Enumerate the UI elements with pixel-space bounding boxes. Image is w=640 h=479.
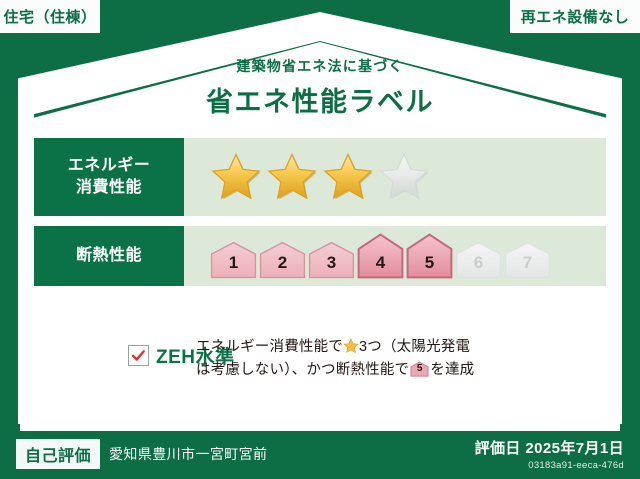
zeh-desc-text-1: エネルギー消費性能で <box>196 339 343 355</box>
star-filled-icon <box>322 151 374 203</box>
insulation-grade-value: 7 <box>504 253 551 273</box>
insulation-grade-6: 6 <box>455 241 502 279</box>
star-filled-icon <box>266 151 318 203</box>
insulation-grade-7: 7 <box>504 241 551 279</box>
star-filled-icon <box>210 151 262 203</box>
insulation-grade-2: 2 <box>259 241 306 279</box>
footer-right: 評価日 2025年7月1日 03183a91-eeca-476d <box>475 437 624 471</box>
inline-star-icon <box>343 338 359 354</box>
zeh-description: エネルギー消費性能で3つ（太陽光発電 は考慮しない）、かつ断熱性能で5を達成 <box>196 336 474 383</box>
insulation-grade-4: 4 <box>357 233 404 279</box>
footer: 自己評価 愛知県豊川市一宮町宮前 評価日 2025年7月1日 03183a91-… <box>0 429 640 479</box>
building-type-tag: 住宅（住棟） <box>0 0 100 33</box>
star-rating <box>210 151 430 203</box>
zeh-block: ZEH水準 エネルギー消費性能で3つ（太陽光発電 は考慮しない）、かつ断熱性能で… <box>34 336 606 383</box>
insulation-performance-row: 断熱性能 1234567 <box>34 226 606 286</box>
insulation-grade-3: 3 <box>308 241 355 279</box>
insulation-grade-value: 1 <box>210 253 257 273</box>
zeh-description-line2: は考慮しない）、かつ断熱性能で5を達成 <box>196 359 474 382</box>
insulation-grade-value: 6 <box>455 253 502 273</box>
insulation-grade-5: 5 <box>406 233 453 279</box>
inline-grade-value: 5 <box>410 361 429 377</box>
insulation-grade-scale: 1234567 <box>210 233 551 279</box>
footer-left: 自己評価 愛知県豊川市一宮町宮前 <box>16 439 267 469</box>
energy-label-line1: エネルギー <box>68 155 151 177</box>
title-subtitle: 建築物省エネ法に基づく <box>0 56 640 76</box>
insulation-grade-1: 1 <box>210 241 257 279</box>
performance-rows: エネルギー 消費性能 断熱性能 1234567 <box>34 138 606 296</box>
inline-grade-badge: 5 <box>410 361 429 377</box>
evaluation-date: 評価日 2025年7月1日 <box>475 437 624 458</box>
energy-performance-label-box: エネルギー 消費性能 <box>34 138 184 216</box>
insulation-grade-value: 5 <box>406 253 453 273</box>
energy-performance-body <box>184 138 606 216</box>
insulation-grade-value: 3 <box>308 253 355 273</box>
zeh-desc-text-3: は考慮しない）、かつ断熱性能で <box>196 362 409 378</box>
energy-performance-label: 住宅（住棟） 再エネ設備なし 建築物省エネ法に基づく 省エネ性能ラベル エネルギ… <box>0 0 640 479</box>
zeh-checkbox[interactable] <box>128 345 149 366</box>
page-title: 省エネ性能ラベル <box>0 80 640 119</box>
title-block: 建築物省エネ法に基づく 省エネ性能ラベル <box>0 56 640 119</box>
building-type-label: 住宅（住棟） <box>3 6 96 27</box>
insulation-grade-value: 4 <box>357 253 404 273</box>
renewable-equipment-label: 再エネ設備なし <box>521 6 630 27</box>
zeh-description-line1: エネルギー消費性能で3つ（太陽光発電 <box>196 336 474 359</box>
insulation-performance-label-box: 断熱性能 <box>34 226 184 286</box>
check-icon <box>131 348 146 363</box>
insulation-grade-value: 2 <box>259 253 306 273</box>
zeh-desc-text-2: 3つ（太陽光発電 <box>359 339 470 355</box>
energy-label-line2: 消費性能 <box>68 177 151 199</box>
insulation-performance-body: 1234567 <box>184 226 606 286</box>
insulation-label: 断熱性能 <box>76 245 142 267</box>
star-empty-icon <box>378 151 430 203</box>
label-uuid: 03183a91-eeca-476d <box>475 460 624 471</box>
address-text: 愛知県豊川市一宮町宮前 <box>109 444 267 464</box>
energy-performance-row: エネルギー 消費性能 <box>34 138 606 216</box>
zeh-mark: ZEH水準 <box>34 336 182 369</box>
self-evaluation-badge: 自己評価 <box>16 439 100 469</box>
zeh-desc-text-4: を達成 <box>430 362 474 378</box>
renewable-equipment-tag: 再エネ設備なし <box>510 0 640 33</box>
